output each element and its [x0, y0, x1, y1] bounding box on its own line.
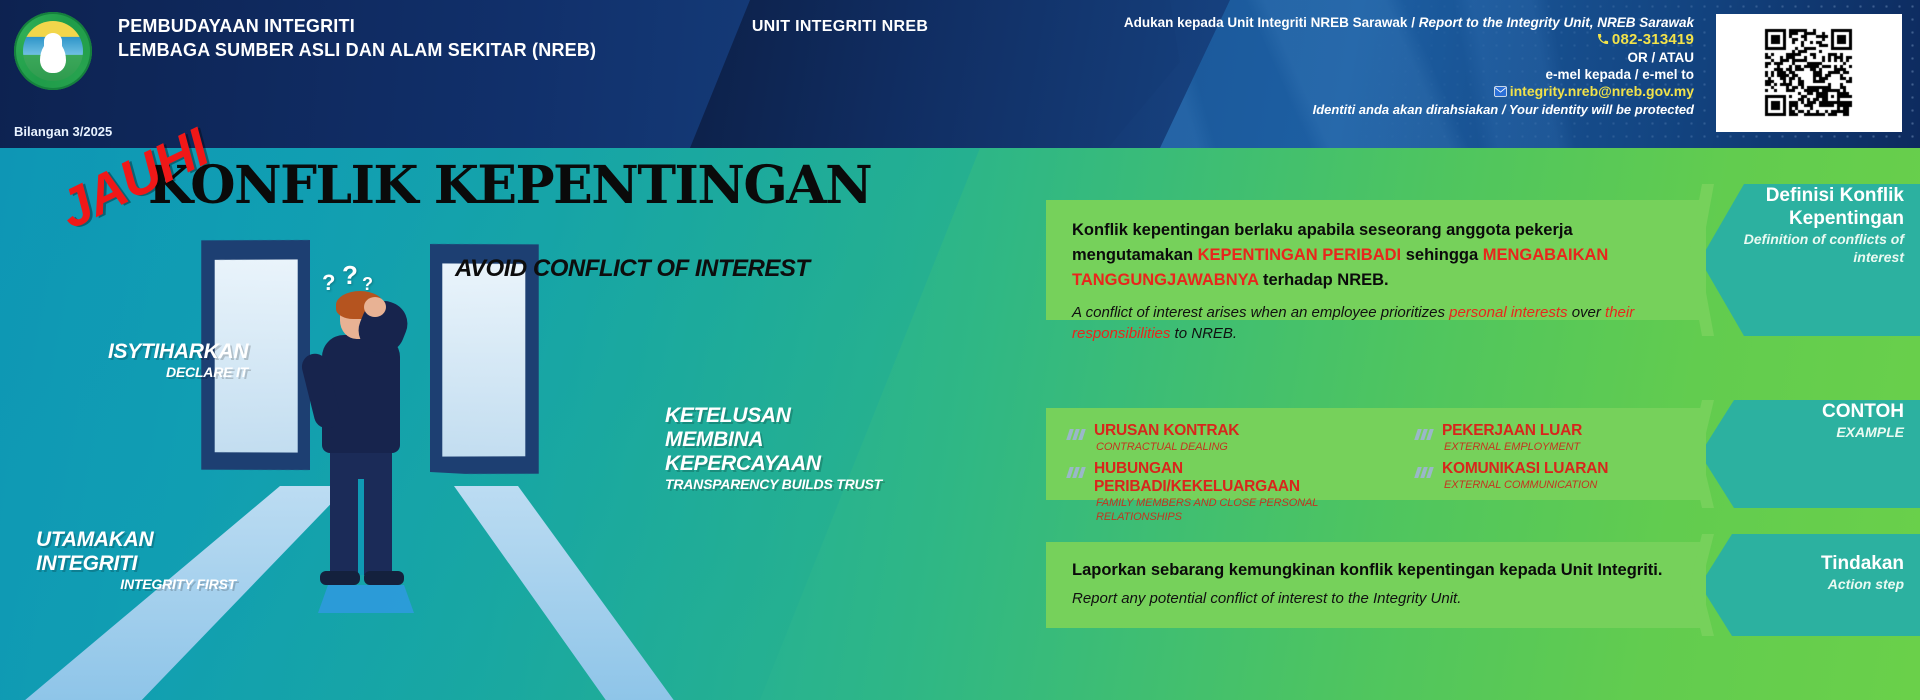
door-panel-right [442, 260, 525, 461]
list-item: HUBUNGAN PERIBADI/KEKELUARGAAN FAMILY ME… [1068, 460, 1388, 524]
panel-action: Laporkan sebarang kemungkinan konflik ke… [1046, 542, 1706, 628]
definition-ms-part3: terhadap NREB. [1258, 271, 1388, 289]
mail-icon [1494, 84, 1507, 101]
person-legs [330, 445, 392, 575]
list-item: URUSAN KONTRAK CONTRACTUAL DEALING [1068, 422, 1388, 454]
contact-email-row[interactable]: integrity.nreb@nreb.gov.my [1074, 83, 1694, 101]
example-grid: URUSAN KONTRAK CONTRACTUAL DEALING HUBUN… [1068, 422, 1684, 530]
page-subtitle: AVOID CONFLICT OF INTEREST [455, 255, 810, 283]
header-contact-block: Adukan kepada Unit Integriti NREB Sarawa… [1074, 14, 1694, 118]
stripes-icon [1068, 465, 1086, 483]
caption-transparency-en: TRANSPARENCY BUILDS TRUST [665, 476, 885, 492]
contact-phone-row[interactable]: 082-313419 [1074, 31, 1694, 49]
person-shoe-left [320, 571, 360, 585]
infographic-page: PEMBUDAYAAN INTEGRITI LEMBAGA SUMBER ASL… [0, 0, 1920, 700]
logo-hand-icon [40, 41, 66, 73]
question-mark-icon-2: ? [342, 260, 358, 291]
tag-definition: Definisi Konflik Kepentingan Definition … [1700, 184, 1920, 336]
definition-en-part2: over [1568, 304, 1606, 321]
list-item: KOMUNIKASI LUARAN EXTERNAL COMMUNICATION [1416, 460, 1716, 492]
report-line: Adukan kepada Unit Integriti NREB Sarawa… [1074, 14, 1694, 31]
email-address: integrity.nreb@nreb.gov.my [1510, 83, 1694, 99]
definition-text-ms: Konflik kepentingan berlaku apabila sese… [1072, 218, 1680, 293]
tag-action-ms: Tindakan [1714, 552, 1904, 575]
tag-definition-text: Definisi Konflik Kepentingan Definition … [1714, 184, 1904, 266]
caption-integrity: UTAMAKAN INTEGRITI INTEGRITY FIRST [36, 528, 236, 592]
definition-ms-part2: sehingga [1401, 246, 1483, 264]
definition-en-part1: A conflict of interest arises when an em… [1072, 304, 1449, 321]
tag-definition-en: Definition of conflicts of interest [1714, 230, 1904, 266]
page-header: PEMBUDAYAAN INTEGRITI LEMBAGA SUMBER ASL… [0, 0, 1920, 148]
email-label: e-mel kepada / e-mel to [1074, 66, 1694, 83]
stripes-icon [1068, 427, 1086, 445]
example-item-ms: URUSAN KONTRAK [1094, 422, 1239, 440]
action-text-en: Report any potential conflict of interes… [1072, 589, 1680, 609]
example-column-right: PEKERJAAN LUAR EXTERNAL EMPLOYMENT KOMUN… [1416, 422, 1716, 530]
person-hand [364, 297, 386, 317]
tag-example-en: EXAMPLE [1714, 423, 1904, 441]
panel-definition: Konflik kepentingan berlaku apabila sese… [1046, 200, 1706, 320]
tag-definition-ms: Definisi Konflik Kepentingan [1714, 184, 1904, 230]
caption-transparency: KETELUSAN MEMBINA KEPERCAYAAN TRANSPAREN… [665, 404, 885, 492]
tag-example-text: CONTOH EXAMPLE [1714, 400, 1904, 441]
caption-declare: ISYTIHARKAN DECLARE IT [108, 340, 248, 380]
definition-text-en: A conflict of interest arises when an em… [1072, 302, 1680, 344]
tag-action: Tindakan Action step [1700, 534, 1920, 636]
tag-action-text: Tindakan Action step [1714, 552, 1904, 593]
example-item-ms: PEKERJAAN LUAR [1442, 422, 1582, 440]
or-label: OR / ATAU [1074, 49, 1694, 66]
panel-example: URUSAN KONTRAK CONTRACTUAL DEALING HUBUN… [1046, 408, 1706, 500]
example-item-en: EXTERNAL COMMUNICATION [1444, 478, 1608, 492]
example-item-en: CONTRACTUAL DEALING [1096, 440, 1239, 454]
definition-en-part3: to NREB. [1170, 325, 1237, 342]
example-column-left: URUSAN KONTRAK CONTRACTUAL DEALING HUBUN… [1068, 422, 1388, 530]
tag-example-ms: CONTOH [1714, 400, 1904, 423]
stripes-icon [1416, 427, 1434, 445]
privacy-note: Identiti anda akan dirahsiakan / Your id… [1074, 101, 1694, 118]
phone-icon [1597, 32, 1609, 49]
definition-en-red1: personal interests [1449, 304, 1567, 321]
person-shadow [318, 585, 414, 613]
report-line-ms: Adukan kepada Unit Integriti NREB Sarawa… [1124, 15, 1419, 30]
definition-ms-red1: KEPENTINGAN PERIBADI [1198, 246, 1402, 264]
list-item: PEKERJAAN LUAR EXTERNAL EMPLOYMENT [1416, 422, 1716, 454]
tag-example: CONTOH EXAMPLE [1700, 400, 1920, 508]
caption-declare-ms: ISYTIHARKAN [108, 340, 248, 364]
header-center-title-text: UNIT INTEGRITI NREB [752, 18, 928, 35]
person-shoe-right [364, 571, 404, 585]
example-item-en: EXTERNAL EMPLOYMENT [1444, 440, 1582, 454]
page-title: KONFLIK KEPENTINGAN [148, 155, 871, 216]
person-illustration [300, 295, 430, 595]
floor-right [378, 486, 738, 700]
tag-action-en: Action step [1714, 575, 1904, 593]
phone-number: 082-313419 [1612, 31, 1694, 48]
report-line-en: Report to the Integrity Unit, NREB Saraw… [1419, 15, 1694, 30]
example-item-ms: HUBUNGAN PERIBADI/KEKELUARGAAN [1094, 460, 1388, 496]
example-item-ms: KOMUNIKASI LUARAN [1442, 460, 1608, 478]
action-text-ms: Laporkan sebarang kemungkinan konflik ke… [1072, 558, 1680, 582]
example-item-en: FAMILY MEMBERS AND CLOSE PERSONAL RELATI… [1096, 496, 1388, 524]
header-org-line2: LEMBAGA SUMBER ASLI DAN ALAM SEKITAR (NR… [118, 38, 596, 62]
caption-integrity-ms: UTAMAKAN INTEGRITI [36, 528, 236, 576]
caption-integrity-en: INTEGRITY FIRST [36, 576, 236, 592]
issue-number: Bilangan 3/2025 [14, 124, 112, 139]
stripes-icon [1416, 465, 1434, 483]
caption-transparency-ms: KETELUSAN MEMBINA KEPERCAYAAN [665, 404, 885, 476]
caption-declare-en: DECLARE IT [108, 364, 248, 380]
qr-code[interactable] [1716, 14, 1902, 132]
question-mark-icon: ??? [322, 270, 335, 296]
